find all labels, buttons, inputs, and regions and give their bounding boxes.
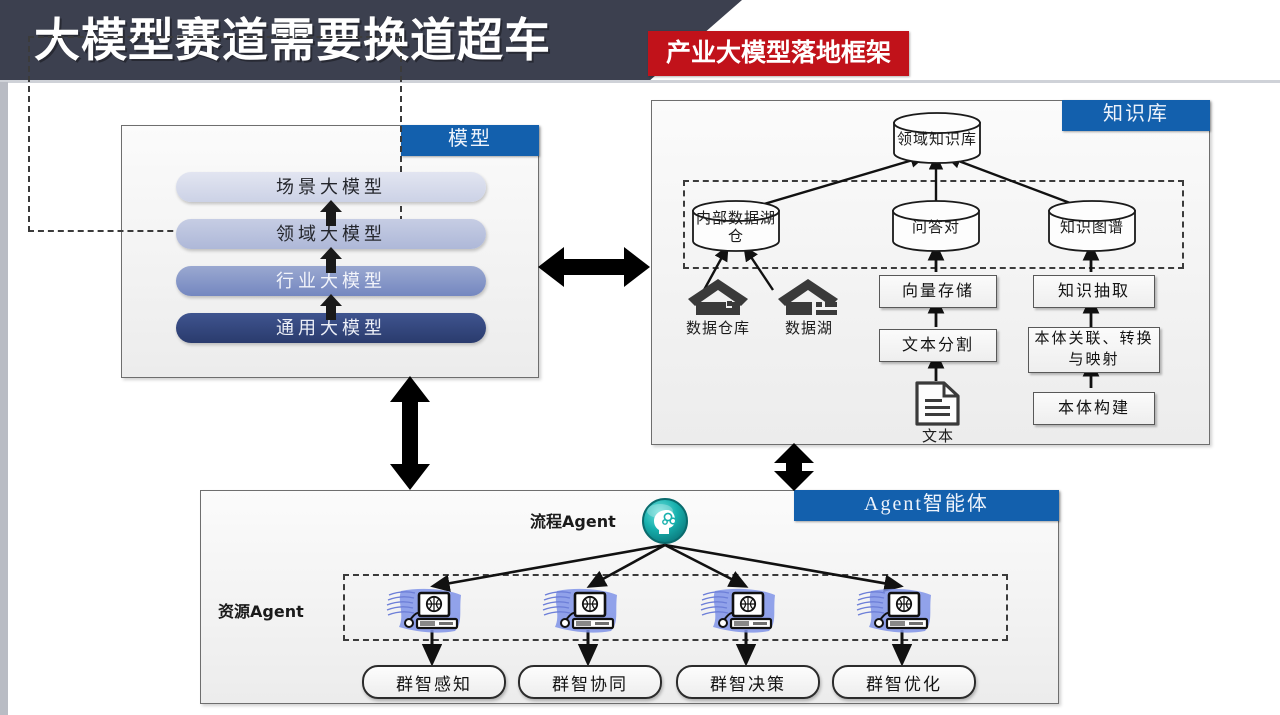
cylinder-knowledge-graph[interactable]: 知识图谱 — [1048, 200, 1136, 252]
panel-model-title: 模型 — [401, 125, 539, 156]
cylinder-label: 知识图谱 — [1060, 215, 1124, 237]
connector-model-to-knowledge-icon — [538, 243, 650, 291]
model-pill-scene[interactable]: 场景大模型 — [176, 172, 486, 202]
model-dashed-group — [28, 36, 402, 232]
data-warehouse-label: 数据仓库 — [676, 320, 760, 338]
model-pill-industry[interactable]: 行业大模型 — [176, 266, 486, 296]
cylinder-label: 内部数据湖仓 — [692, 206, 780, 246]
data-lake-label: 数据湖 — [768, 320, 850, 338]
resource-agent-label: 资源Agent — [218, 598, 304, 622]
capsule-swarm-collaboration[interactable]: 群智协同 — [518, 665, 662, 699]
header-badge: 产业大模型落地框架 — [648, 31, 909, 76]
model-pill-domain[interactable]: 领域大模型 — [176, 219, 486, 249]
cylinder-label: 问答对 — [912, 215, 960, 237]
connector-knowledge-to-agent-icon — [770, 443, 818, 491]
cylinder-domain-knowledge-base[interactable]: 领域知识库 — [893, 112, 981, 164]
panel-knowledge-title: 知识库 — [1062, 100, 1210, 131]
capsule-swarm-decision[interactable]: 群智决策 — [676, 665, 820, 699]
panel-agent-title: Agent智能体 — [794, 490, 1059, 521]
left-edge-strip — [0, 82, 8, 715]
process-agent-label: 流程Agent — [530, 508, 616, 532]
box-ontology-construction[interactable]: 本体构建 — [1033, 392, 1155, 425]
box-vector-storage[interactable]: 向量存储 — [879, 275, 997, 308]
box-text-splitting[interactable]: 文本分割 — [879, 329, 997, 362]
box-ontology-mapping[interactable]: 本体关联、转换与映射 — [1028, 327, 1160, 373]
capsule-swarm-perception[interactable]: 群智感知 — [362, 665, 506, 699]
cylinder-label: 领域知识库 — [897, 127, 977, 149]
connector-model-to-agent-icon — [386, 376, 434, 490]
cylinder-qa-pairs[interactable]: 问答对 — [892, 200, 980, 252]
cylinder-internal-data-lakehouse[interactable]: 内部数据湖仓 — [692, 200, 780, 252]
capsule-swarm-optimization[interactable]: 群智优化 — [832, 665, 976, 699]
agent-dashed-group — [343, 574, 1008, 641]
text-document-label: 文本 — [905, 428, 971, 446]
box-knowledge-extraction[interactable]: 知识抽取 — [1033, 275, 1155, 308]
model-pill-general[interactable]: 通用大模型 — [176, 313, 486, 343]
